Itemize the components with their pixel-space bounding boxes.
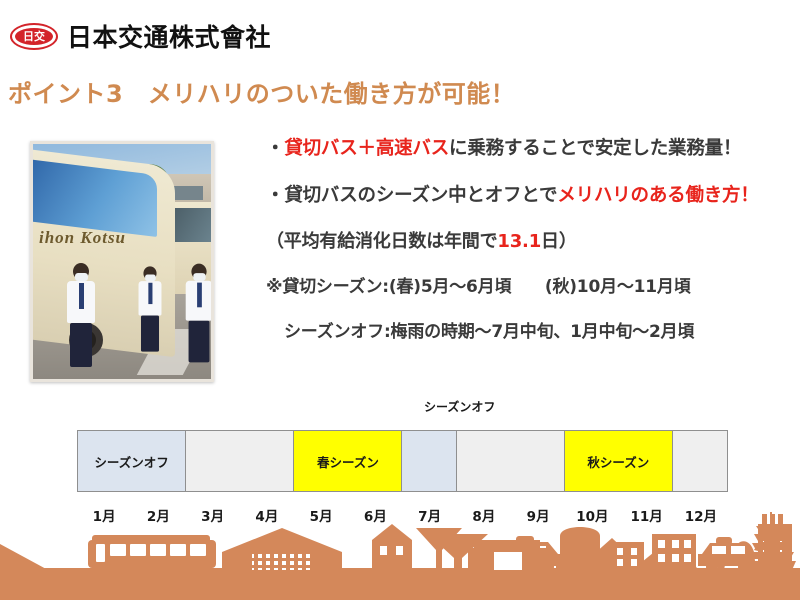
office-building-icon (652, 534, 696, 570)
timeline-segment-5 (457, 431, 565, 491)
timeline-segment-label: 春シーズン (317, 452, 379, 471)
photo-driver (186, 264, 213, 363)
body-line-5: シーズンオフ:梅雨の時期～7月中旬、1月中旬～2月頃 (266, 324, 786, 341)
arch-gate-icon (468, 540, 548, 570)
timeline-segment-4 (402, 431, 456, 491)
body-line-2: ・貸切バスのシーズン中とオフとでメリハリのある働き方！ (266, 187, 786, 206)
office-building-icon (612, 542, 644, 570)
company-name: 日本交通株式會社 (67, 18, 271, 54)
line2-prefix: ・ (266, 185, 284, 206)
timeline-segment-2 (186, 431, 294, 491)
photo-driver (139, 266, 162, 351)
pagoda-tower-icon (744, 510, 800, 600)
season-off-callout-label: シーズンオフ (424, 398, 495, 415)
nihon-kotsu-logo-icon: 日交 (10, 23, 58, 50)
season-timeline: シーズンオフ春シーズン秋シーズン (77, 430, 728, 492)
line2-highlight: メリハリのある働き方！ (557, 185, 758, 206)
body-line-1: ・貸切バス＋高速バスに乗務することで安定した業務量！ (266, 140, 786, 159)
timeline-segment-春シーズン: 春シーズン (294, 431, 402, 491)
line1-rest: に乗務することで安定した業務量！ (449, 138, 741, 159)
tree-icon (416, 528, 462, 570)
page-title: ポイント3 メリハリのついた働き方が可能！ (8, 74, 515, 109)
line3-pre: （平均有給消化日数は年間で (266, 231, 497, 252)
timeline-segment-label: 秋シーズン (587, 452, 649, 471)
logo-text: 日交 (15, 28, 53, 45)
photo-bus-lettering: ihon Kotsu (39, 228, 159, 248)
shrine-house-icon (222, 528, 342, 570)
body-text-block: ・貸切バス＋高速バスに乗務することで安定した業務量！ ・貸切バスのシーズン中とオ… (266, 140, 786, 369)
line3-post: 日） (541, 231, 577, 252)
timeline-segment-7 (673, 431, 727, 491)
dome-icon (556, 527, 604, 570)
timeline-segment-シーズンオフ: シーズンオフ (78, 431, 186, 491)
line1-highlight: 貸切バス＋高速バス (284, 138, 449, 159)
body-line-3: （平均有給消化日数は年間で13.1日） (266, 233, 786, 251)
bus-drivers-photo: ihon Kotsu (30, 141, 214, 382)
body-line-4: ※貸切シーズン:(春)5月～6月頃 (秋)10月～11月頃 (266, 279, 786, 296)
line3-value: 13.1 (497, 231, 541, 252)
line2-text: 貸切バスのシーズン中とオフとで (284, 185, 557, 206)
timeline-segment-秋シーズン: 秋シーズン (565, 431, 673, 491)
mountain-icon (0, 544, 48, 570)
city-silhouette-band-right (400, 510, 800, 600)
timeline-segment-label: シーズンオフ (94, 452, 168, 471)
line1-prefix: ・ (266, 138, 284, 159)
header: 日交 日本交通株式會社 (10, 18, 271, 54)
photo-driver (67, 263, 95, 367)
